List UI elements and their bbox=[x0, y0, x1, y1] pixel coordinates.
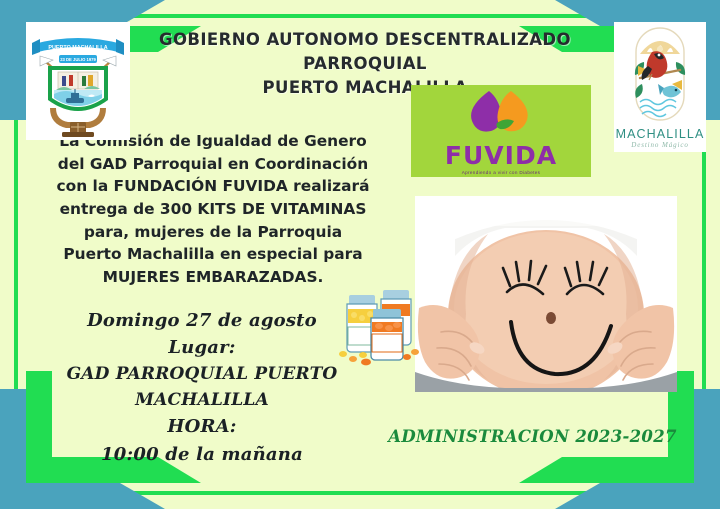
body-line: Puerto Machalilla en especial para bbox=[22, 243, 404, 266]
vitamin-bottles-icon bbox=[333, 287, 429, 369]
event-place-line-1: GAD PARROQUIAL PUERTO bbox=[22, 362, 382, 388]
header-line-1: GOBIERNO AUTONOMO DESCENTRALIZADO PARROQ… bbox=[159, 30, 571, 73]
fuvida-wordmark: FUVIDA bbox=[411, 143, 591, 168]
fuvida-logo: FUVIDA Aprendiendo a vivir con Diabetes bbox=[411, 85, 591, 177]
fuvida-tagline: Aprendiendo a vivir con Diabetes bbox=[411, 170, 591, 175]
event-place-line-2: MACHALILLA bbox=[22, 388, 382, 414]
event-place-label: Lugar: bbox=[22, 334, 382, 361]
body-line: con la FUNDACIÓN FUVIDA realizará bbox=[22, 175, 404, 198]
body-line: entrega de 300 KITS DE VITAMINAS bbox=[22, 198, 404, 221]
body-line: del GAD Parroquial en Coordinación bbox=[22, 153, 404, 176]
body-line-emphasis: MUJERES EMBARAZADAS. bbox=[22, 266, 404, 289]
gad-coat-of-arms: PUERTO MACHALILLA 23 DE JULIO 1979 bbox=[26, 22, 130, 140]
announcement-body: La Comisión de Igualdad de Genero del GA… bbox=[22, 130, 404, 288]
event-date: Domingo 27 de agosto bbox=[22, 307, 382, 334]
machalilla-emblem-icon bbox=[614, 22, 706, 126]
machalilla-logo-name: MACHALILLA bbox=[614, 127, 706, 141]
event-time-value: 10:00 de la mañana bbox=[22, 441, 382, 468]
coat-of-arms-icon: PUERTO MACHALILLA 23 DE JULIO 1979 bbox=[26, 22, 130, 140]
poster: PUERTO MACHALILLA 23 DE JULIO 1979 bbox=[0, 0, 720, 509]
machalilla-tourism-logo: MACHALILLA Destino Mágico bbox=[614, 22, 706, 152]
event-details: Domingo 27 de agosto Lugar: GAD PARROQUI… bbox=[22, 307, 382, 468]
administration-period: ADMINISTRACION 2023-2027 bbox=[385, 427, 680, 446]
pregnant-belly-photo bbox=[415, 196, 677, 392]
body-line: para, mujeres de la Parroquia bbox=[22, 221, 404, 244]
pregnant-belly-illustration bbox=[415, 196, 677, 392]
vitamin-bottles-illustration bbox=[333, 287, 429, 369]
machalilla-logo-subtitle: Destino Mágico bbox=[614, 141, 706, 149]
crest-date-ribbon: 23 DE JULIO 1979 bbox=[60, 57, 96, 62]
fuvida-droplet-icon bbox=[411, 85, 591, 143]
crest-banner-text: PUERTO MACHALILLA bbox=[48, 45, 107, 51]
event-time-label: HORA: bbox=[22, 413, 382, 440]
poster-content: PUERTO MACHALILLA 23 DE JULIO 1979 bbox=[0, 0, 720, 509]
